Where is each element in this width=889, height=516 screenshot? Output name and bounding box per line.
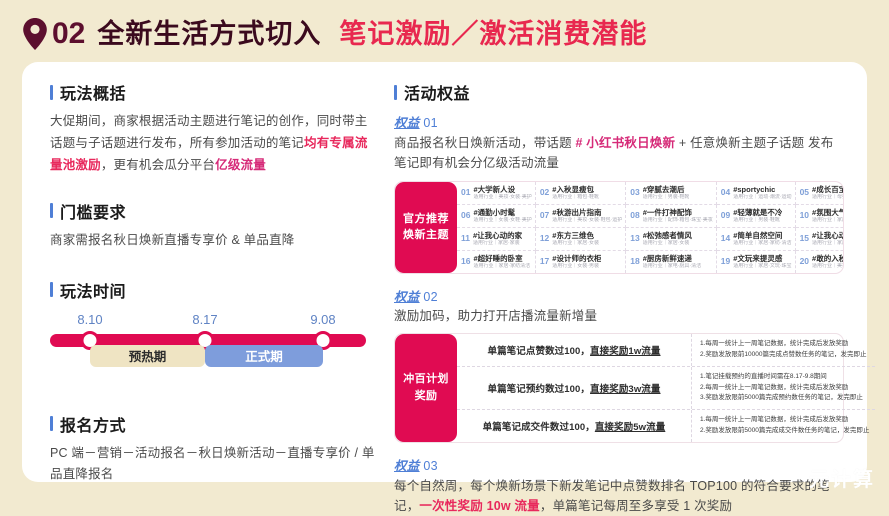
topic-cell[interactable]: 15#让我心动的家适用行业｜家居·家居美护 — [796, 228, 844, 251]
benefit-03-tag: 权益 03 — [394, 455, 844, 474]
reward-notes: 1.每周一统计上一周笔记数据，统计完成后发放奖励2.奖励发放限前5000篇完成成… — [692, 410, 875, 442]
benefit-02-tag-num: 02 — [423, 290, 438, 304]
topic-scope: 适用行业｜家居·家纺清洁 — [473, 263, 530, 270]
reward-note: 3.奖励发放限前5000篇完成预约数任务的笔记，发完即止 — [700, 394, 869, 403]
threshold-title: 门槛要求 — [50, 199, 380, 223]
topic-number: 05 — [800, 185, 809, 197]
topic-cell[interactable]: 06#通勤小时髦适用行业｜女装·女鞋·美护 — [457, 205, 536, 228]
topic-cell[interactable]: 19#文玩来提灵感适用行业｜家居·文玩·珠宝 — [717, 251, 796, 273]
topic-body: #让我心动的家适用行业｜家居·家装 — [473, 231, 522, 247]
signup-block: 报名方式 PC 端－营销－活动报名－秋日焕新活动－直播专享价 / 单品直降报名 — [50, 412, 380, 487]
topic-cell[interactable]: 07#秋游出片指南适用行业｜美妆·女装·鞋包·运护 — [536, 205, 626, 228]
timeline-date-3: 9.08 — [310, 312, 335, 327]
topic-body: #让我心动的家适用行业｜家居·家居美护 — [812, 231, 844, 247]
topic-body: #厨房新鲜速递适用行业｜家电·厨具·清洁 — [643, 254, 701, 270]
topic-name: #穿腻去潮后 — [643, 185, 690, 194]
overview-highlight-2: 亿级流量 — [215, 158, 266, 172]
topic-cell[interactable]: 02#入秋显瘦包适用行业｜箱包·鞋靴 — [536, 182, 626, 205]
topic-body: #设计师的衣柜适用行业｜女装·男装 — [552, 254, 601, 270]
reward-table: 冲百计划 奖励 单篇笔记点赞数过100，直接奖励1w流量1.每周一统计上一周笔记… — [394, 333, 844, 442]
benefit-03-tag-label: 权益 — [394, 459, 420, 473]
reward-note: 1.笔记挂载预约的直播时间需在8.17-9.8期间 — [700, 373, 869, 382]
topic-number: 02 — [540, 185, 549, 197]
topic-name: #厨房新鲜速递 — [643, 254, 701, 263]
content-card: 玩法概括 大促期间，商家根据活动主题进行笔记的创作，同时带主话题与子话题进行发布… — [22, 62, 867, 482]
threshold-text: 商家需报名秋日焕新直播专享价 & 单品直降 — [50, 230, 380, 252]
topic-cell[interactable]: 14#简单自然空间适用行业｜家居·家纺·清洁 — [717, 228, 796, 251]
topic-cell[interactable]: 01#大学新人设适用行业｜美妆·女装·美护 — [457, 182, 536, 205]
reward-condition: 单篇笔记预约数过100，直接奖励3w流量 — [457, 367, 692, 409]
signup-title: 报名方式 — [50, 412, 380, 436]
reward-note: 1.每周一统计上一周笔记数据，统计完成后发放奖励 — [700, 416, 869, 425]
watermark: 元计算 — [809, 463, 875, 492]
topic-cell[interactable]: 20#敢的入秋企划适用行业｜美妆·服护 — [796, 251, 844, 273]
overview-text-2: ，更有机会瓜分平台 — [101, 158, 215, 172]
topic-scope: 适用行业｜家居·文玩·珠宝 — [733, 263, 791, 270]
topic-cell[interactable]: 08#一件打神配饰适用行业｜配饰·箱包·珠宝·美妆 — [626, 205, 716, 228]
topic-scope: 适用行业｜家居·女装 — [552, 240, 599, 247]
signup-text: PC 端－营销－活动报名－秋日焕新活动－直播专享价 / 单品直降报名 — [50, 443, 380, 487]
benefit-01-tag-num: 01 — [423, 116, 438, 130]
reward-condition-prefix: 单篇笔记点赞数过100， — [487, 343, 590, 357]
topic-scope: 适用行业｜家居·家装 — [473, 240, 522, 247]
reward-table-header: 冲百计划 奖励 — [395, 334, 457, 441]
topic-body: #穿腻去潮后适用行业｜男装·鞋靴 — [643, 185, 690, 201]
topic-cell[interactable]: 04#sportychic适用行业｜运动·潮流·运动 — [717, 182, 796, 205]
topic-body: #简单自然空间适用行业｜家居·家纺·清洁 — [733, 231, 791, 247]
topic-number: 04 — [721, 185, 730, 197]
topic-cell[interactable]: 16#超好睡的卧室适用行业｜家居·家纺清洁 — [457, 251, 536, 273]
topic-cell[interactable]: 10#氛围大气的居家适用行业｜家居·家纺·清洁 — [796, 205, 844, 228]
topic-body: #文玩来提灵感适用行业｜家居·文玩·珠宝 — [733, 254, 791, 270]
benefit-01-text: 商品报名秋日焕新活动，带话题 # 小红书秋日焕新 + 任意焕新主题子话题 发布笔… — [394, 133, 844, 173]
topic-cell[interactable]: 17#设计师的衣柜适用行业｜女装·男装 — [536, 251, 626, 273]
topic-scope: 适用行业｜配饰·箱包·珠宝·美妆 — [643, 217, 713, 224]
topic-body: #入秋显瘦包适用行业｜箱包·鞋靴 — [552, 185, 599, 201]
topic-scope: 适用行业｜美妆·女装·鞋包·运护 — [552, 217, 622, 224]
topic-name: #sportychic — [733, 185, 791, 194]
reward-row: 单篇笔记成交件数过100，直接奖励5w流量1.每周一统计上一周笔记数据，统计完成… — [457, 410, 875, 442]
reward-row: 单篇笔记点赞数过100，直接奖励1w流量1.每周一统计上一周笔记数据，统计完成后… — [457, 334, 875, 367]
topic-head-line1: 官方推荐 — [403, 211, 449, 228]
topic-number: 19 — [721, 254, 730, 266]
topic-body: #松弛感者情风适用行业｜家居·女装 — [643, 231, 692, 247]
topic-body: #大学新人设适用行业｜美妆·女装·美护 — [473, 185, 531, 201]
reward-head-line1: 冲百计划 — [403, 371, 449, 388]
timeline-date-1: 8.10 — [77, 312, 102, 327]
topic-body: #一件打神配饰适用行业｜配饰·箱包·珠宝·美妆 — [643, 208, 713, 224]
topic-scope: 适用行业｜美妆·女装·美护 — [473, 194, 531, 201]
topic-body: #通勤小时髦适用行业｜女装·女鞋·美护 — [473, 208, 531, 224]
topic-scope: 适用行业｜运动·潮流·运动 — [733, 194, 791, 201]
reward-notes: 1.笔记挂载预约的直播时间需在8.17-9.8期间2.每周一统计上一周笔记数据，… — [692, 367, 875, 409]
timeline-title: 玩法时间 — [50, 278, 380, 302]
reward-note: 1.每周一统计上一周笔记数据，统计完成后发放奖励 — [700, 340, 869, 349]
timeline-date-2: 8.17 — [192, 312, 217, 327]
reward-rows: 单篇笔记点赞数过100，直接奖励1w流量1.每周一统计上一周笔记数据，统计完成后… — [457, 334, 875, 441]
topic-number: 10 — [800, 208, 809, 220]
benefit-01-tag-label: 权益 — [394, 116, 420, 130]
topic-body: #东方三维色适用行业｜家居·女装 — [552, 231, 599, 247]
topic-scope: 适用行业｜女装·女鞋·美护 — [473, 217, 531, 224]
topic-scope: 适用行业｜箱包·鞋靴 — [552, 194, 599, 201]
section-subtitle: 笔记激励／激活消费潜能 — [339, 21, 647, 48]
benefit-02-block: 权益 02 激励加码，助力打开店播流量新增量 — [394, 286, 844, 326]
section-title: 全新生活方式切入 — [97, 21, 321, 48]
topic-number: 14 — [721, 231, 730, 243]
topic-body: #超好睡的卧室适用行业｜家居·家纺清洁 — [473, 254, 530, 270]
left-column: 玩法概括 大促期间，商家根据活动主题进行笔记的创作，同时带主话题与子话题进行发布… — [50, 80, 380, 500]
benefit-03-highlight: 一次性奖励 10w 流量 — [419, 499, 539, 513]
topic-head-line2: 焕新主题 — [403, 227, 449, 244]
topic-name: #让我心动的家 — [473, 231, 522, 240]
topic-body: #氛围大气的居家适用行业｜家居·家纺·清洁 — [812, 208, 844, 224]
topic-name: #东方三维色 — [552, 231, 599, 240]
topic-cell[interactable]: 18#厨房新鲜速递适用行业｜家电·厨具·清洁 — [626, 251, 716, 273]
topic-number: 20 — [800, 254, 809, 266]
topic-table-header: 官方推荐 焕新主题 — [395, 182, 457, 273]
reward-notes: 1.每周一统计上一周笔记数据，统计完成后发放奖励2.奖励发放限前10000篇完成… — [692, 334, 875, 366]
topic-number: 09 — [721, 208, 730, 220]
reward-condition-amount: 直接奖励1w流量 — [590, 343, 660, 357]
reward-condition-prefix: 单篇笔记成交件数过100， — [483, 419, 595, 433]
overview-text: 大促期间，商家根据活动主题进行笔记的创作，同时带主话题与子话题进行发布，所有参加… — [50, 111, 380, 177]
topic-number: 06 — [461, 208, 470, 220]
topic-number: 03 — [630, 185, 639, 197]
section-number: 02 — [52, 19, 85, 49]
topic-number: 17 — [540, 254, 549, 266]
topic-name: #松弛感者情风 — [643, 231, 692, 240]
timeline-phase-warmup: 预热期 — [90, 345, 205, 367]
topic-name: #通勤小时髦 — [473, 208, 531, 217]
reward-condition-prefix: 单篇笔记预约数过100， — [487, 381, 590, 395]
benefit-03-text: 每个自然周，每个焕新场景下新发笔记中点赞数排名 TOP100 的符合要求的笔记，… — [394, 476, 844, 516]
topic-cell[interactable]: 09#轻薄就是不冷适用行业｜男装·鞋靴 — [717, 205, 796, 228]
topic-body: #轻薄就是不冷适用行业｜男装·鞋靴 — [733, 208, 782, 224]
reward-condition-amount: 直接奖励3w流量 — [590, 381, 660, 395]
topic-cell[interactable]: 03#穿腻去潮后适用行业｜男装·鞋靴 — [626, 182, 716, 205]
timeline: 8.10 8.17 9.08 预热期 正式期 — [50, 312, 366, 384]
topic-name: #成长百宝箱 — [812, 185, 844, 194]
topic-cell[interactable]: 05#成长百宝箱适用行业｜母婴·家居·图书 — [796, 182, 844, 205]
topic-cell[interactable]: 11#让我心动的家适用行业｜家居·家装 — [457, 228, 536, 251]
benefit-03-block: 权益 03 每个自然周，每个焕新场景下新发笔记中点赞数排名 TOP100 的符合… — [394, 455, 844, 516]
topic-number: 07 — [540, 208, 549, 220]
benefit-02-text: 激励加码，助力打开店播流量新增量 — [394, 307, 844, 326]
topic-scope: 适用行业｜母婴·家居·图书 — [812, 194, 844, 201]
topic-scope: 适用行业｜男装·鞋靴 — [733, 217, 782, 224]
benefit-01-tag: 权益 01 — [394, 112, 844, 131]
topic-name: #超好睡的卧室 — [473, 254, 530, 263]
reward-note: 2.每周一统计上一周笔记数据，统计完成后发放奖励 — [700, 384, 869, 393]
topic-scope: 适用行业｜家电·厨具·清洁 — [643, 263, 701, 270]
topic-cell[interactable]: 12#东方三维色适用行业｜家居·女装 — [536, 228, 626, 251]
slide-page: 02 全新生活方式切入 笔记激励／激活消费潜能 玩法概括 大促期间，商家根据活动… — [0, 0, 889, 500]
topic-number: 13 — [630, 231, 639, 243]
topic-scope: 适用行业｜男装·鞋靴 — [643, 194, 690, 201]
topic-name: #大学新人设 — [473, 185, 531, 194]
benefit-03-text-2: ，单篇笔记每周至多享受 1 次奖励 — [540, 499, 732, 513]
topic-scope: 适用行业｜家居·女装 — [643, 240, 692, 247]
right-column: 活动权益 权益 01 商品报名秋日焕新活动，带话题 # 小红书秋日焕新 + 任意… — [394, 80, 844, 516]
topic-name: #秋游出片指南 — [552, 208, 622, 217]
reward-note: 2.奖励发放限前10000篇完成点赞数任务的笔记，发完即止 — [700, 351, 869, 360]
topic-name: #让我心动的家 — [812, 231, 844, 240]
topic-body: #敢的入秋企划适用行业｜美妆·服护 — [812, 254, 844, 270]
topic-name: #一件打神配饰 — [643, 208, 713, 217]
timeline-block: 玩法时间 8.10 8.17 9.08 预热期 正式期 — [50, 278, 380, 384]
topic-number: 16 — [461, 254, 470, 266]
topic-number: 18 — [630, 254, 639, 266]
reward-row: 单篇笔记预约数过100，直接奖励3w流量1.笔记挂载预约的直播时间需在8.17-… — [457, 367, 875, 410]
benefits-title: 活动权益 — [394, 80, 844, 104]
reward-condition: 单篇笔记成交件数过100，直接奖励5w流量 — [457, 410, 692, 442]
benefit-02-tag: 权益 02 — [394, 286, 844, 305]
topic-scope: 适用行业｜家居·家纺·清洁 — [812, 217, 844, 224]
benefit-02-tag-label: 权益 — [394, 290, 420, 304]
topic-scope: 适用行业｜家居·家纺·清洁 — [733, 240, 791, 247]
topic-table: 官方推荐 焕新主题 01#大学新人设适用行业｜美妆·女装·美护02#入秋显瘦包适… — [394, 181, 844, 274]
topic-cell[interactable]: 13#松弛感者情风适用行业｜家居·女装 — [626, 228, 716, 251]
timeline-phase-official: 正式期 — [205, 345, 323, 367]
topic-name: #轻薄就是不冷 — [733, 208, 782, 217]
location-pin-icon — [22, 17, 48, 51]
threshold-block: 门槛要求 商家需报名秋日焕新直播专享价 & 单品直降 — [50, 199, 380, 252]
topic-scope: 适用行业｜女装·男装 — [552, 263, 601, 270]
reward-condition-amount: 直接奖励5w流量 — [595, 419, 665, 433]
topic-body: #sportychic适用行业｜运动·潮流·运动 — [733, 185, 791, 201]
timeline-labels: 8.10 8.17 9.08 — [50, 312, 366, 330]
topic-scope: 适用行业｜家居·家居美护 — [812, 240, 844, 247]
topic-name: #敢的入秋企划 — [812, 254, 844, 263]
topic-grid: 01#大学新人设适用行业｜美妆·女装·美护02#入秋显瘦包适用行业｜箱包·鞋靴0… — [457, 182, 844, 273]
topic-body: #秋游出片指南适用行业｜美妆·女装·鞋包·运护 — [552, 208, 622, 224]
topic-number: 08 — [630, 208, 639, 220]
topic-body: #成长百宝箱适用行业｜母婴·家居·图书 — [812, 185, 844, 201]
benefit-01-text-1: 商品报名秋日焕新活动，带话题 — [394, 136, 575, 150]
overview-block: 玩法概括 大促期间，商家根据活动主题进行笔记的创作，同时带主话题与子话题进行发布… — [50, 80, 380, 177]
reward-note: 2.奖励发放限前5000篇完成成交件数任务的笔记，发完即止 — [700, 427, 869, 436]
overview-title: 玩法概括 — [50, 80, 380, 104]
benefit-01-block: 权益 01 商品报名秋日焕新活动，带话题 # 小红书秋日焕新 + 任意焕新主题子… — [394, 112, 844, 173]
topic-name: #入秋显瘦包 — [552, 185, 599, 194]
topic-number: 12 — [540, 231, 549, 243]
topic-name: #设计师的衣柜 — [552, 254, 601, 263]
topic-number: 01 — [461, 185, 470, 197]
topic-scope: 适用行业｜美妆·服护 — [812, 263, 844, 270]
topic-name: #简单自然空间 — [733, 231, 791, 240]
slide-header: 02 全新生活方式切入 笔记激励／激活消费潜能 — [22, 10, 889, 58]
reward-condition: 单篇笔记点赞数过100，直接奖励1w流量 — [457, 334, 692, 366]
topic-name: #文玩来提灵感 — [733, 254, 791, 263]
topic-number: 11 — [461, 231, 470, 243]
topic-number: 15 — [800, 231, 809, 243]
benefit-03-tag-num: 03 — [423, 459, 438, 473]
benefit-01-highlight: # 小红书秋日焕新 — [575, 136, 675, 150]
topic-name: #氛围大气的居家 — [812, 208, 844, 217]
reward-head-line2: 奖励 — [415, 388, 438, 405]
